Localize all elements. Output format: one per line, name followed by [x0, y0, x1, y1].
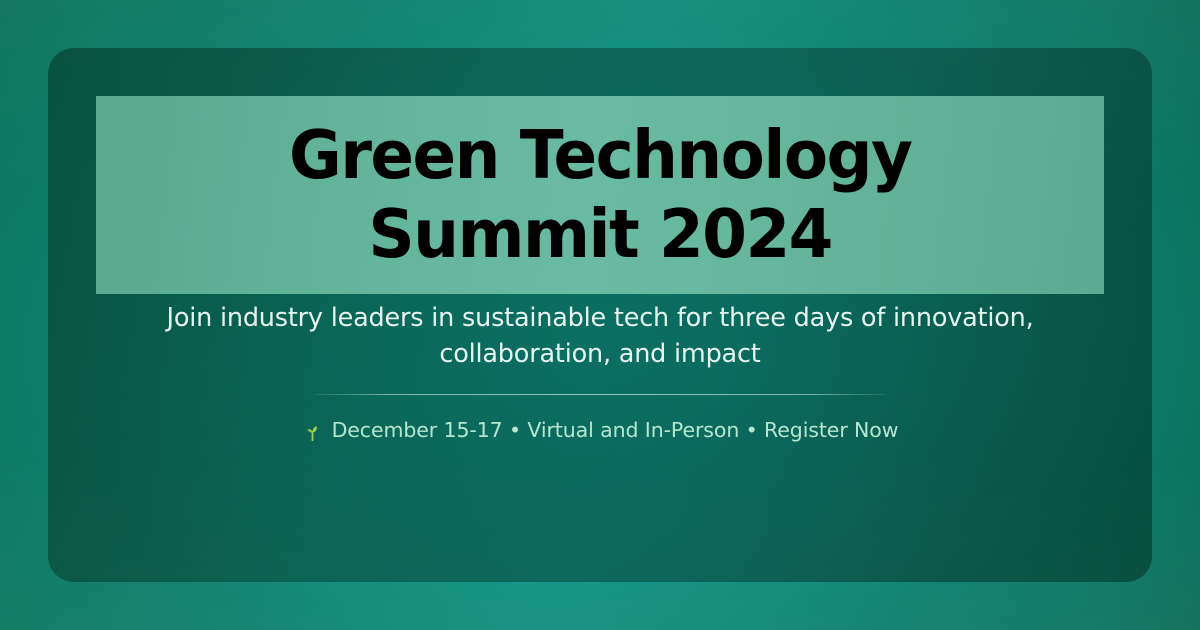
title-band: Green Technology Summit 2024 [96, 96, 1104, 294]
banner-body: Join industry leaders in sustainable tec… [48, 300, 1152, 442]
divider [314, 394, 886, 395]
banner-subtitle: Join industry leaders in sustainable tec… [98, 300, 1102, 372]
event-banner: Green Technology Summit 2024 Join indust… [0, 0, 1200, 630]
page-title: Green Technology Summit 2024 [275, 116, 924, 274]
sprout-icon [302, 421, 323, 442]
event-meta-row: December 15-17 • Virtual and In-Person •… [302, 418, 899, 442]
event-meta-text: December 15-17 • Virtual and In-Person •… [332, 418, 899, 442]
banner-card: Green Technology Summit 2024 Join indust… [48, 48, 1152, 582]
